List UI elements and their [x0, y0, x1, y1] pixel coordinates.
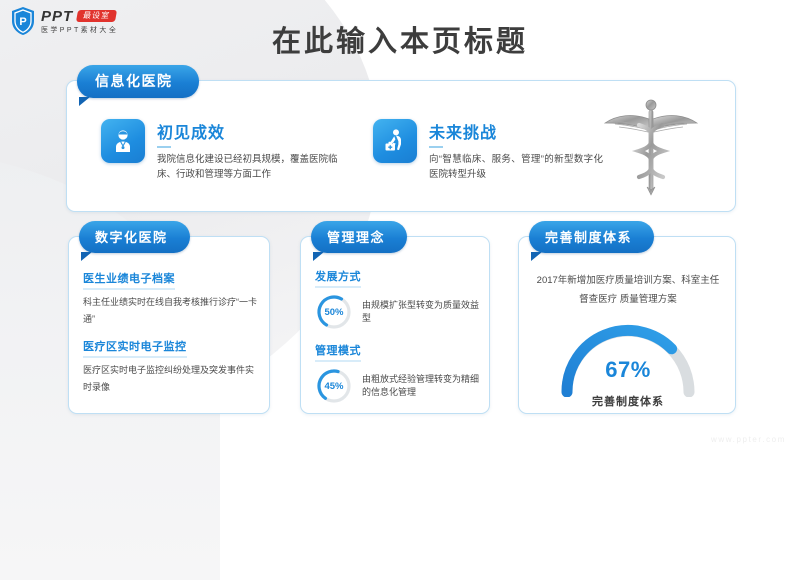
section-realtime-monitoring: 医疗区实时电子监控 医疗区实时电子监控纠纷处理及突发事件实时录像	[83, 337, 257, 395]
page-title: 在此输入本页标题	[0, 18, 800, 60]
feature-initial-results: 初见成效 我院信息化建设已经初具规模，覆盖医院临床、行政和管理等方面工作	[101, 119, 351, 183]
badge-digital-hospital: 数字化医院	[79, 221, 190, 253]
section-body: 医疗区实时电子监控纠纷处理及突发事件实时录像	[83, 362, 257, 395]
badge-improved-system: 完善制度体系	[529, 221, 654, 253]
section-body: 科主任业绩实时在线自我考核推行诊疗“一卡通”	[83, 294, 257, 327]
doctor-with-bag-icon	[373, 119, 417, 163]
feature-divider	[157, 146, 171, 148]
caduceus-icon	[595, 91, 707, 203]
kpi-management-model: 管理模式 45% 由粗放式经验管理转变为精细的信息化管理	[315, 341, 479, 405]
donut-chart-50: 50%	[315, 293, 353, 331]
badge-informatized-hospital: 信息化医院	[77, 65, 199, 98]
kpi-value: 50%	[315, 293, 353, 331]
card-digital-hospital: 数字化医院 医生业绩电子档案 科主任业绩实时在线自我考核推行诊疗“一卡通” 医疗…	[68, 236, 270, 414]
gauge-value: 67%	[553, 357, 703, 383]
section-doctor-records: 医生业绩电子档案 科主任业绩实时在线自我考核推行诊疗“一卡通”	[83, 269, 257, 327]
card-body-text: 2017年新增加医疗质量培训方案、科室主任督查医疗 质量管理方案	[535, 271, 721, 309]
badge-management-philosophy: 管理理念	[311, 221, 407, 253]
badge-label: 信息化医院	[77, 65, 199, 98]
badge-label: 完善制度体系	[529, 221, 654, 253]
doctor-icon	[101, 119, 145, 163]
badge-label: 管理理念	[311, 221, 407, 253]
feature-heading: 初见成效	[157, 119, 351, 143]
card-management-philosophy: 管理理念 发展方式 50% 由规模扩张型转变为质量效益型 管理模式	[300, 236, 490, 414]
feature-future-challenge: 未来挑战 向“智慧临床、服务、管理”的新型数字化医院转型升级	[373, 119, 603, 183]
section-title: 医疗区实时电子监控	[83, 338, 187, 358]
slide-canvas: P PPT 最设室 医学PPT素材大全 在此输入本页标题 信息化医院	[0, 0, 800, 450]
section-title: 医生业绩电子档案	[83, 270, 175, 290]
kpi-body: 由粗放式经验管理转变为精细的信息化管理	[362, 373, 479, 400]
footer-watermark: www.ppter.com	[711, 435, 786, 444]
badge-label: 数字化医院	[79, 221, 190, 253]
feature-body: 我院信息化建设已经初具规模，覆盖医院临床、行政和管理等方面工作	[157, 152, 351, 183]
kpi-title: 管理模式	[315, 342, 361, 362]
kpi-title: 发展方式	[315, 268, 361, 288]
feature-divider	[429, 146, 443, 148]
gauge-chart-67: 67%	[553, 317, 703, 397]
card-improved-system: 完善制度体系 2017年新增加医疗质量培训方案、科室主任督查医疗 质量管理方案 …	[518, 236, 736, 414]
card-informatized-hospital: 信息化医院 初见成效 我院信息化建设已经初具规模，覆盖医院临床、行政和管理等方面…	[66, 80, 736, 212]
kpi-development-mode: 发展方式 50% 由规模扩张型转变为质量效益型	[315, 267, 479, 331]
feature-heading: 未来挑战	[429, 119, 603, 143]
kpi-value: 45%	[315, 367, 353, 405]
feature-body: 向“智慧临床、服务、管理”的新型数字化医院转型升级	[429, 152, 603, 183]
kpi-body: 由规模扩张型转变为质量效益型	[362, 299, 479, 326]
donut-chart-45: 45%	[315, 367, 353, 405]
